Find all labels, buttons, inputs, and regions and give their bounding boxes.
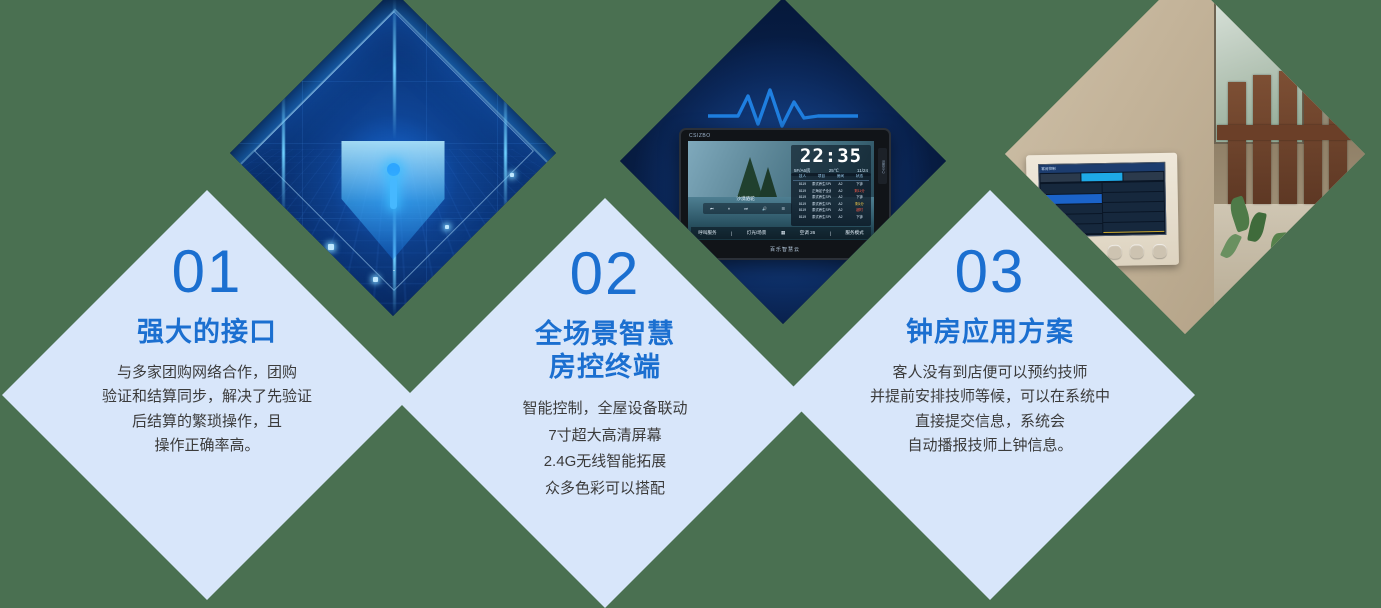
card-03-number: 03	[955, 242, 1026, 302]
panel-button-2[interactable]	[1084, 245, 1098, 259]
col-header-2: 房间	[831, 174, 850, 179]
tablet-chin-brand: 百乐智慧云	[681, 241, 889, 258]
col-header-3: 状态	[850, 174, 869, 179]
cell-status: 下钟	[850, 214, 869, 220]
service-list-header: 技人 项目 房间 状态	[793, 174, 869, 181]
prev-icon[interactable]: ⏮	[710, 206, 714, 211]
cell-room: A2	[831, 214, 850, 220]
corridor-floor	[1207, 204, 1365, 334]
tab-1-selected[interactable]	[1081, 172, 1121, 181]
wallpaper-tree-small	[759, 167, 777, 197]
bottom-button-service[interactable]: 服务模式	[845, 230, 863, 236]
card-01-title: 强大的接口	[137, 316, 277, 349]
panel-button-1[interactable]	[1062, 246, 1076, 260]
bottom-button-call[interactable]: 呼叫服务	[698, 230, 716, 236]
list-item	[1102, 192, 1163, 202]
now-playing-label: 沙漠骆驼	[736, 196, 754, 202]
bottom-button-ac[interactable]: 空调 26	[800, 230, 816, 236]
card-02-description: 智能控制，全屋设备联动 7寸超大高清屏幕 2.4G无线智能拓展 众多色彩可以搭配	[522, 396, 687, 503]
cell-tech: 8119	[793, 214, 812, 220]
divider: |	[830, 231, 831, 236]
card-01-number: 01	[172, 242, 243, 302]
list-item	[1041, 204, 1102, 214]
list-item	[1103, 202, 1164, 212]
tab-2[interactable]	[1123, 172, 1163, 181]
panel-column-right[interactable]	[1102, 182, 1164, 233]
list-item	[1103, 212, 1164, 222]
card-03-description: 客人没有到店便可以预约技师 并提前安排技师等候，可以在系统中 直接提交信息，系统…	[870, 361, 1110, 458]
panel-button-4[interactable]	[1130, 244, 1144, 258]
cell-item: 泰式养生SPA	[812, 214, 831, 220]
panel-body	[1039, 181, 1165, 235]
tablet-brand-label: CSIZBO	[689, 133, 711, 139]
list-item	[1041, 214, 1102, 224]
table-row: 8119 泰式养生SPA A2 下钟	[793, 214, 869, 220]
list-item	[1041, 224, 1102, 234]
play-icon[interactable]: ⏸	[728, 206, 730, 211]
apps-grid-icon[interactable]: ▦	[781, 230, 785, 236]
volume-icon[interactable]: 🔊	[762, 206, 767, 211]
tab-0[interactable]	[1040, 173, 1080, 182]
tablet-device: CSIZBO 22:35 5F/A6房 25℃ 11/24	[679, 128, 891, 260]
col-header-1: 项目	[812, 174, 831, 179]
card-02-title: 全场景智慧 房控终端	[535, 318, 675, 384]
list-item-highlight	[1103, 222, 1164, 233]
next-icon[interactable]: ⏭	[744, 206, 748, 211]
music-player-controls[interactable]: ⏮ ⏸ ⏭ 🔊 ☰	[703, 203, 792, 214]
col-header-0: 技人	[793, 174, 812, 179]
lock-key-stem-icon	[390, 179, 397, 209]
panel-button-3[interactable]	[1107, 245, 1121, 259]
clock-widget: 22:35 5F/A6房 25℃ 11/24	[791, 145, 871, 176]
card-01-description: 与多家团购网络合作，团购 验证和结算同步，解决了先验证 后结算的繁琐操作，且 操…	[102, 361, 312, 458]
side-button-label[interactable]: 设置中心	[878, 148, 887, 184]
panel-column-left[interactable]	[1040, 183, 1102, 234]
panel-display[interactable]: 客房控制	[1038, 162, 1166, 238]
list-item-selected	[1040, 194, 1101, 204]
bottom-button-light[interactable]: 灯光/场景	[747, 230, 767, 236]
card-02-number: 02	[570, 244, 641, 304]
panel-button-5[interactable]	[1152, 244, 1166, 258]
diamond-card-grid: 01 强大的接口 与多家团购网络合作，团购 验证和结算同步，解决了先验证 后结算…	[0, 0, 1381, 603]
list-item	[1040, 183, 1101, 193]
list-item	[1102, 182, 1163, 192]
service-list[interactable]: 技人 项目 房间 状态 8119 泰式养生SPA A2 下钟 8119	[791, 173, 871, 226]
heartbeat-pulse-icon	[708, 86, 858, 132]
card-03-title: 钟房应用方案	[906, 316, 1074, 349]
tablet-bottom-bar[interactable]: 呼叫服务 | 灯光/场景 ▦ 空调 26 | 服务模式	[691, 227, 871, 239]
tablet-screen[interactable]: 22:35 5F/A6房 25℃ 11/24 技人 项目 房间 状态	[688, 141, 874, 240]
clock-time: 22:35	[794, 147, 868, 166]
list-icon[interactable]: ☰	[781, 206, 785, 211]
divider: |	[731, 231, 732, 236]
lock-keyhole-icon	[387, 163, 400, 176]
